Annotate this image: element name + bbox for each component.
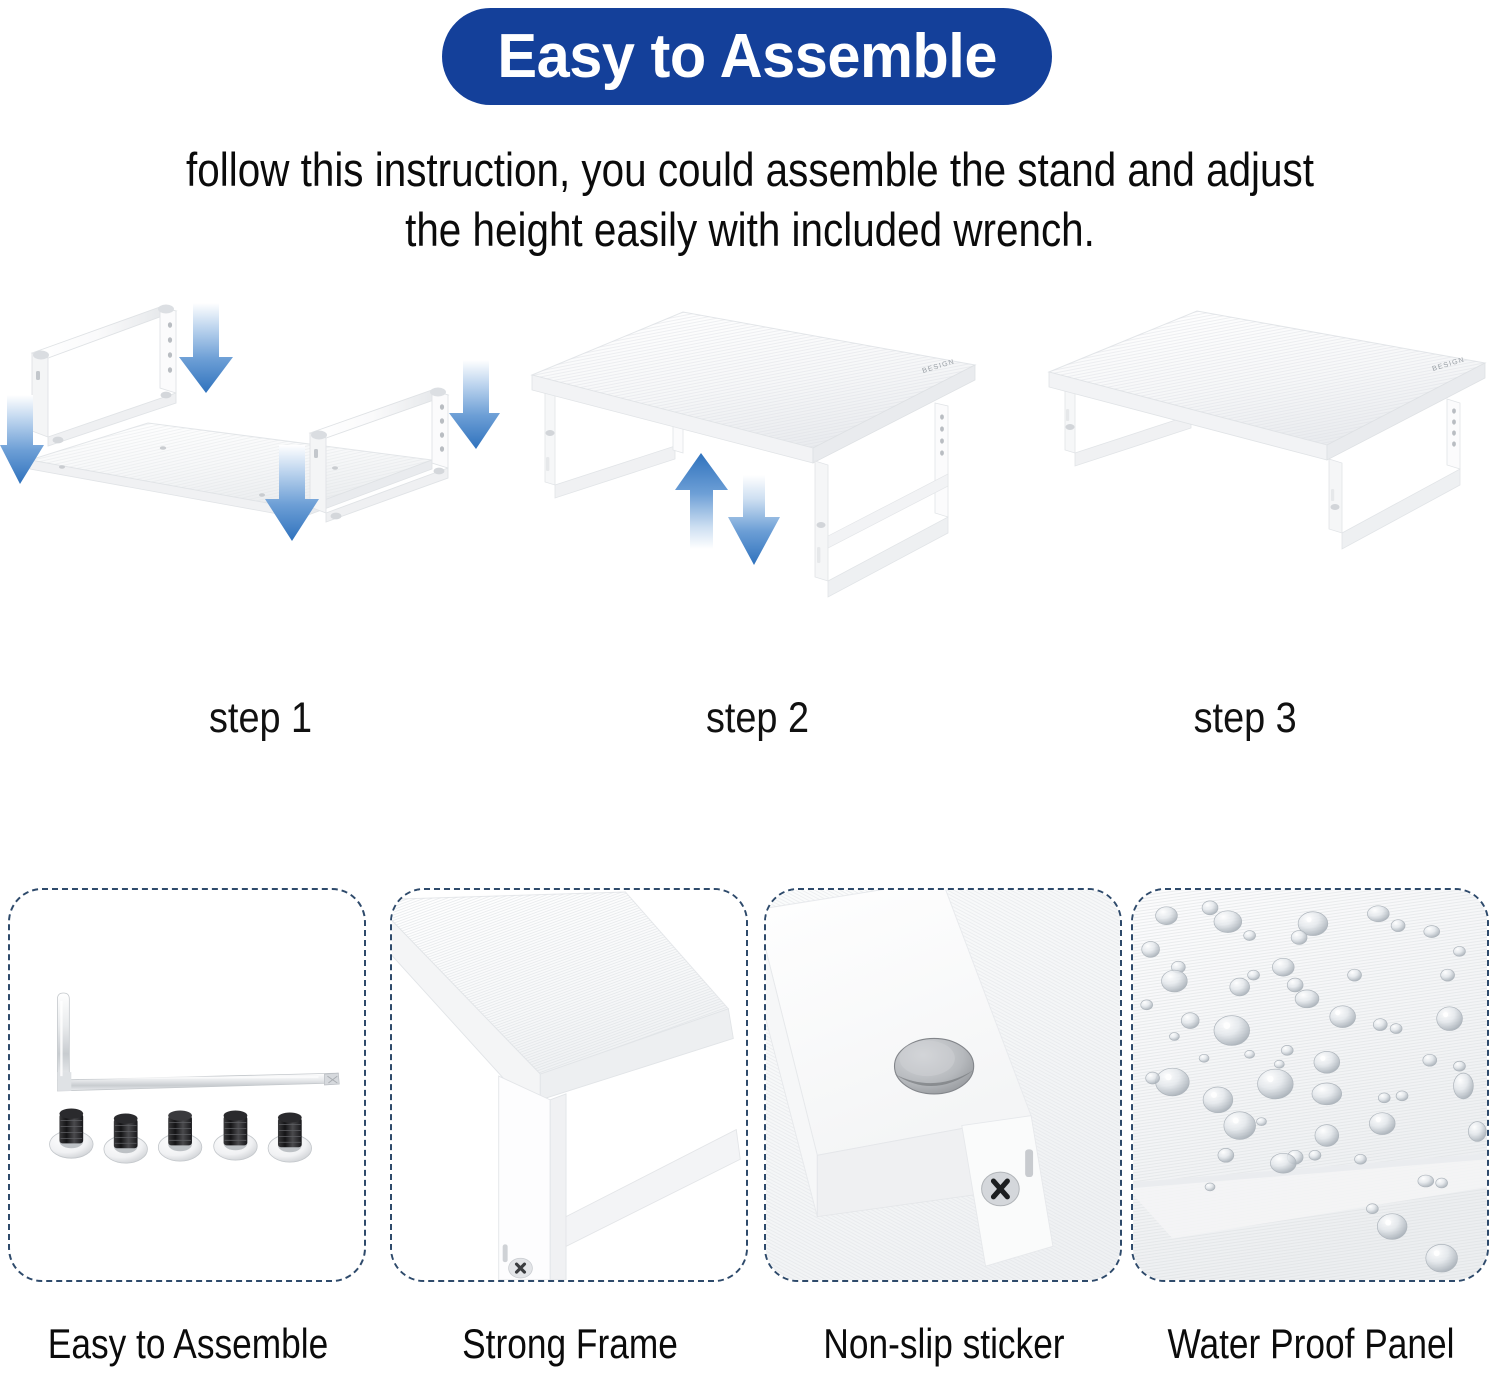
- page-title-text: Easy to Assemble: [497, 21, 997, 92]
- feature-strong-frame: Strong Frame: [390, 880, 750, 1396]
- step-2-height-adjust-illustration: BESIGN: [505, 285, 1010, 680]
- assembly-step-2: BESIGN: [505, 285, 1010, 745]
- frame-corner-closeup-photo: [390, 888, 748, 1282]
- hex-wrench-and-screws-photo: [8, 888, 366, 1282]
- screw-with-washer: [50, 1109, 94, 1159]
- screw-with-washer: [104, 1113, 148, 1163]
- screws-group: [50, 1109, 312, 1164]
- non-slip-sticker-closeup-photo: [764, 888, 1122, 1282]
- down-arrow-icon: [449, 360, 500, 449]
- water-droplets-on-panel-photo: [1131, 888, 1489, 1282]
- step-1-label: step 1: [41, 694, 481, 743]
- step-3-label: step 3: [1032, 694, 1459, 743]
- assembly-steps-row: step 1: [0, 285, 1500, 745]
- instruction-subtitle: follow this instruction, you could assem…: [165, 140, 1335, 259]
- feature-non-slip-sticker: Non-slip sticker: [764, 880, 1124, 1396]
- up-arrow-icon: [675, 453, 728, 549]
- feature-panels-row: Easy to Assemble: [0, 880, 1500, 1396]
- step-3-finished-stand-illustration: BESIGN: [1015, 285, 1500, 680]
- step3-panel: BESIGN: [1049, 311, 1485, 460]
- assembly-step-1: step 1: [0, 285, 500, 745]
- phillips-screw-icon: [982, 1172, 1020, 1206]
- feature-easy-to-assemble: Easy to Assemble: [8, 880, 368, 1396]
- non-slip-pad-icon: [894, 1038, 973, 1093]
- feature-water-proof-panel: Water Proof Panel: [1131, 880, 1491, 1396]
- feature-caption-easy-to-assemble: Easy to Assemble: [28, 1320, 347, 1368]
- step-2-label: step 2: [535, 694, 979, 743]
- feature-caption-strong-frame: Strong Frame: [410, 1320, 729, 1368]
- page-title-badge: Easy to Assemble: [442, 8, 1052, 105]
- phillips-screw-icon: [509, 1258, 533, 1278]
- assembly-step-3: BESIGN step 3: [1015, 285, 1500, 745]
- screw-with-washer: [214, 1111, 258, 1161]
- feature-caption-non-slip-sticker: Non-slip sticker: [784, 1320, 1103, 1368]
- down-arrow-icon: [728, 475, 780, 565]
- screw-with-washer: [268, 1112, 312, 1162]
- step-1-legs-onto-panel-illustration: [0, 285, 500, 680]
- feature-caption-water-proof-panel: Water Proof Panel: [1151, 1320, 1470, 1368]
- screw-with-washer: [158, 1111, 202, 1162]
- down-arrow-icon: [179, 303, 233, 393]
- step2-panel: BESIGN: [532, 312, 975, 463]
- hex-wrench-icon: [57, 993, 339, 1091]
